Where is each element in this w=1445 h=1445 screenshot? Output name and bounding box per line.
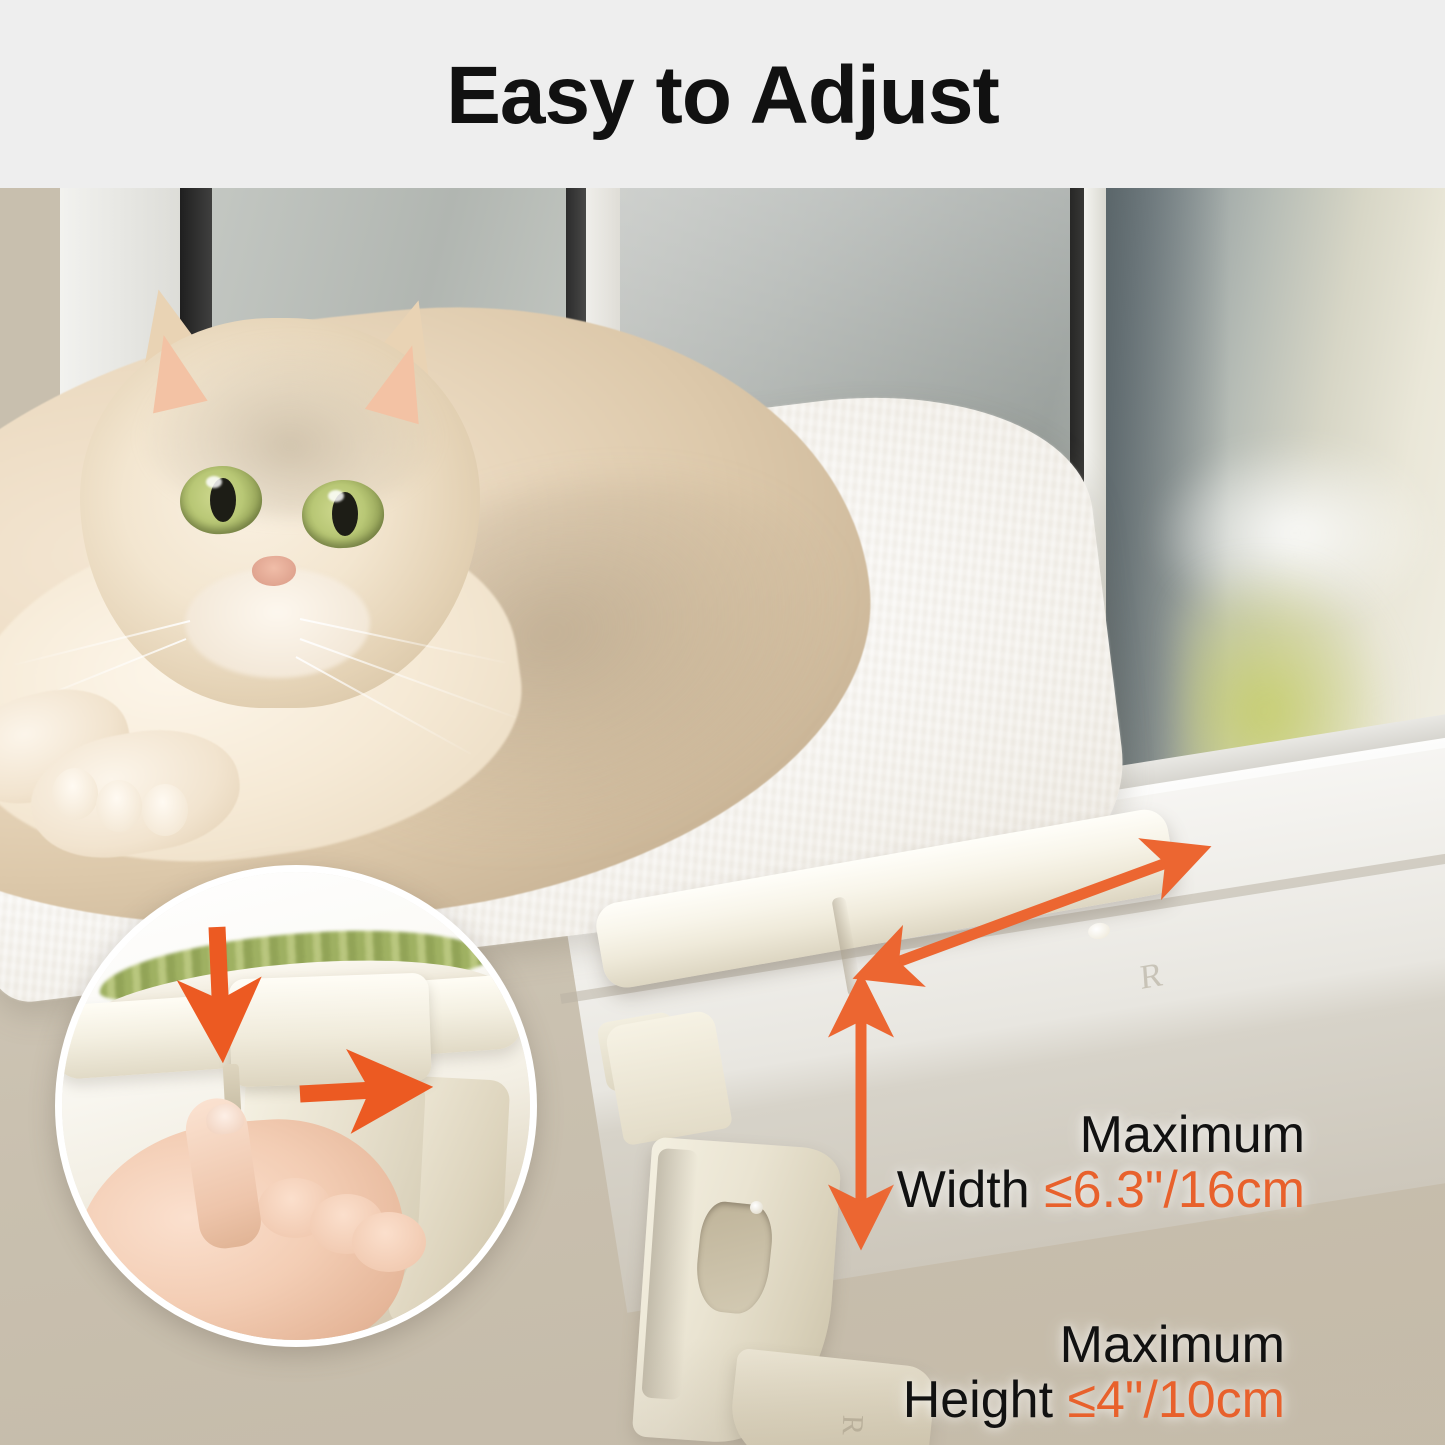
max-height-value: ≤4"/10cm [1067,1371,1285,1429]
cat-eye-glint-left [206,476,222,488]
max-height-line2-label: Height [903,1371,1053,1429]
cat-toe [52,768,98,820]
cat-toe [142,784,188,836]
perch-rail-marking: R [1139,956,1164,998]
slide-right-arrow [300,1088,412,1094]
cat-eye-glint-right [328,490,344,502]
page-title: Easy to Adjust [446,55,999,137]
max-height-label: Maximum Height ≤4"/10cm [720,1318,1285,1428]
max-width-line1: Maximum [760,1108,1305,1163]
inset-arrow-layer [62,872,530,1340]
adjustment-detail-inset [55,865,537,1347]
header-band: Easy to Adjust [0,0,1445,188]
max-width-value: ≤6.3"/16cm [1044,1161,1305,1219]
max-height-line1: Maximum [720,1318,1285,1373]
perch-rail-endcap [604,1009,733,1146]
max-width-line2-label: Width [897,1161,1030,1219]
press-down-arrow [217,927,222,1042]
cat-toe [96,780,142,832]
product-photo: R R Maximum W [0,188,1445,1445]
max-width-label: Maximum Width ≤6.3"/16cm [760,1108,1305,1218]
product-feature-image: Easy to Adjust [0,0,1445,1445]
